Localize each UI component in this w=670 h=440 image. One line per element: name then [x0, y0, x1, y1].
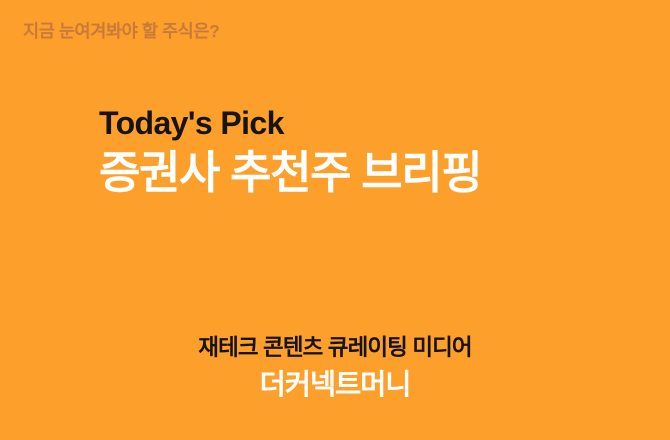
- headline-block: Today's Pick 증권사 추천주 브리핑: [99, 106, 481, 198]
- brand-name: 더커넥트머니: [0, 368, 670, 402]
- kicker-text: 지금 눈여겨봐야 할 주식은?: [23, 21, 219, 43]
- brand-tagline: 재테크 콘텐츠 큐레이팅 미디어: [0, 334, 670, 361]
- promo-card: 지금 눈여겨봐야 할 주식은? Today's Pick 증권사 추천주 브리핑…: [0, 0, 670, 440]
- eyebrow-english-title: Today's Pick: [99, 106, 481, 142]
- main-headline: 증권사 추천주 브리핑: [99, 148, 481, 198]
- brand-block: 재테크 콘텐츠 큐레이팅 미디어 더커넥트머니: [0, 334, 670, 402]
